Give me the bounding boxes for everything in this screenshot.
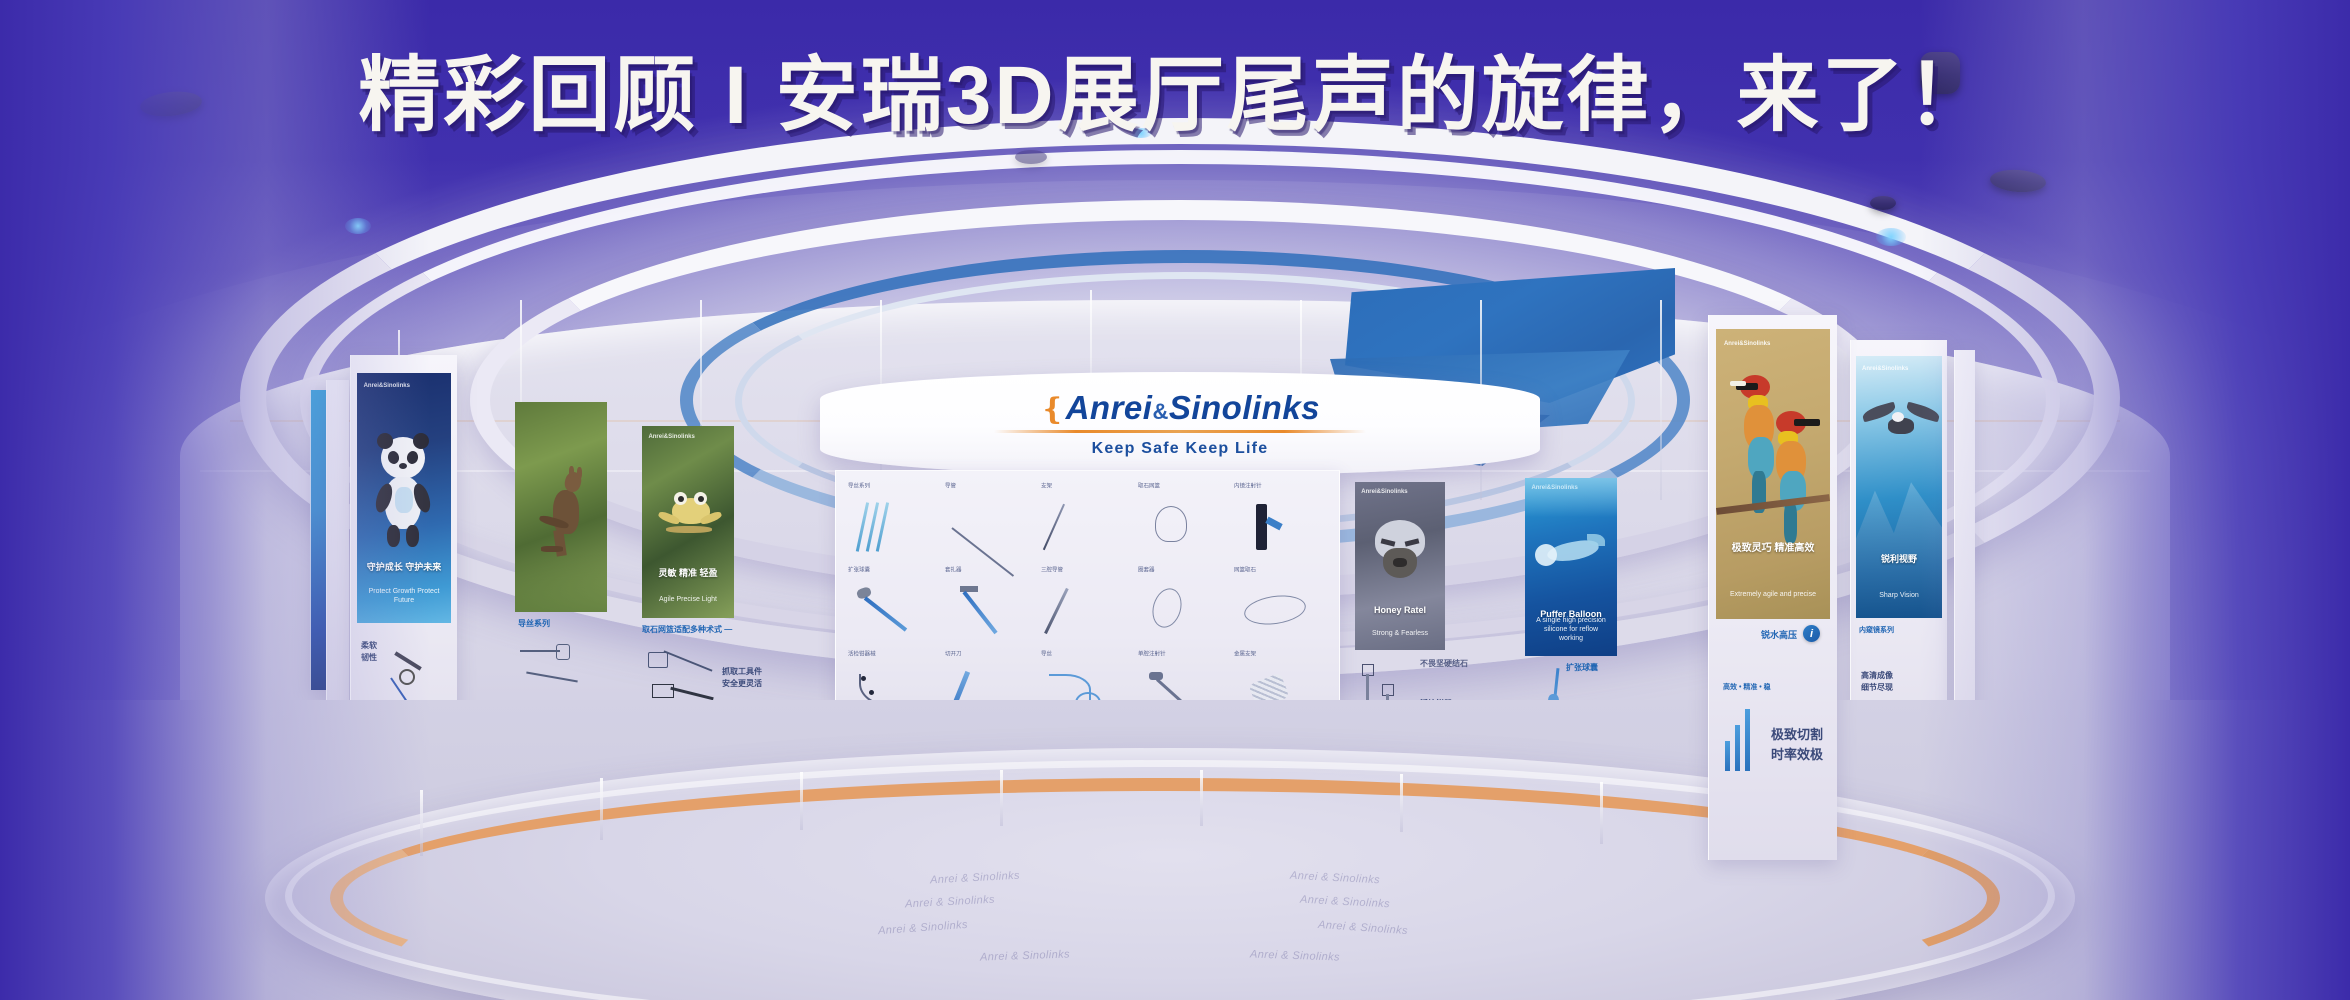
caption-bird-note: 锐水高压 — [1761, 629, 1797, 643]
caption-line-1: 抓取工具件 — [722, 667, 762, 676]
poster-title: 守护成长 守护未来 — [363, 562, 446, 573]
product-cell[interactable]: 套扎器 — [945, 565, 1038, 645]
exhibition-hall-banner-image: ❴Anrei&Sinolinks Keep Safe Keep Life Anr… — [0, 0, 2350, 1000]
poster-kangaroo[interactable] — [515, 402, 607, 612]
banner-title: 精彩回顾 I 安瑞3D展厅尾声的旋律，来了！ — [0, 28, 2350, 147]
caption-line-2: 韧性 — [361, 653, 377, 662]
railing-post — [1400, 774, 1403, 832]
product-label: 导丝系列 — [848, 481, 870, 489]
product-cell[interactable]: 导管 — [945, 481, 1038, 561]
device-thin-wire-icon — [952, 502, 1030, 552]
caption-bird-lines: 极致切割 时率效极 — [1771, 725, 1823, 764]
kiosk-caption-panda: 柔软 韧性 — [361, 640, 377, 664]
railing-post — [1600, 782, 1603, 844]
railing-post — [1200, 770, 1203, 826]
product-label: 导丝 — [1041, 649, 1052, 657]
ring-light-glint — [1876, 228, 1906, 246]
ceiling-spotlight-fixture — [1015, 150, 1047, 164]
product-label: 扩张球囊 — [848, 565, 870, 573]
product-label: 网篮取石 — [1234, 565, 1256, 573]
poster-brand-label: Anrei&Sinolinks — [1361, 489, 1407, 495]
poster-panda[interactable]: Anrei&Sinolinks 守护成长 守护未来 — [357, 373, 451, 623]
caption-line-2: 时率效极 — [1771, 747, 1823, 762]
device-triple-rod-icon — [855, 502, 933, 552]
poster-brand-label: Anrei&Sinolinks — [1724, 341, 1770, 347]
caption-badger-note: 不畏坚硬结石 — [1420, 658, 1468, 670]
bee-eater-bird-2 — [1764, 411, 1826, 547]
caption-line-2: 安全更灵活 — [722, 679, 762, 688]
poster-title: 极致灵巧 精准高效 — [1723, 543, 1823, 556]
poster-title: 锐利视野 — [1861, 554, 1937, 565]
product-label: 内镜注射针 — [1234, 481, 1262, 489]
caption-frog-note: 取石网篮适配多种术式 — — [642, 624, 732, 636]
product-cell[interactable]: 网篮取石 — [1234, 565, 1327, 645]
product-label: 金属支架 — [1234, 649, 1256, 657]
product-sketch-guidewire — [520, 642, 590, 702]
caption-eagle-note: 内窥镜系列 — [1859, 626, 1894, 637]
caption-eagle-lines: 高清成像 细节尽现 — [1861, 670, 1893, 694]
product-label: 导管 — [945, 481, 956, 489]
caption-kangaroo: 导丝系列 — [518, 618, 550, 630]
anrei-logo-mark-icon — [1803, 625, 1820, 642]
device-balloon-probe-icon — [855, 586, 933, 636]
kiosk-edge-left[interactable] — [310, 390, 327, 690]
ceiling-spotlight-fixture — [1870, 196, 1896, 210]
poster-title: Honey Ratel — [1360, 605, 1439, 616]
product-cell[interactable]: 扩张球囊 — [848, 565, 941, 645]
caption-line-1: 极致切割 — [1771, 727, 1823, 742]
poster-brand-label: Anrei&Sinolinks — [364, 383, 410, 389]
poster-subtitle: Sharp Vision — [1863, 591, 1935, 600]
device-big-loop-icon — [1242, 586, 1320, 636]
bar-1 — [1725, 741, 1730, 771]
ring-light-glint — [345, 218, 371, 234]
product-cell[interactable]: 导丝系列 — [848, 481, 941, 561]
railing-post — [600, 778, 603, 840]
product-cell[interactable]: 三腔导管 — [1041, 565, 1134, 645]
honey-badger-face — [1371, 520, 1429, 584]
device-taper-icon — [1049, 586, 1127, 636]
product-cell[interactable]: 内镜注射针 — [1234, 481, 1327, 561]
kiosk-bee-eater[interactable]: Anrei&Sinolinks — [1708, 315, 1837, 860]
kiosk-bar-chart — [1725, 707, 1750, 771]
poster-brand-label: Anrei&Sinolinks — [648, 434, 694, 440]
device-loop-icon — [1145, 502, 1223, 552]
bar-2 — [1735, 725, 1740, 771]
kiosk-edge-left-2[interactable] — [326, 380, 349, 710]
railing-post — [420, 790, 423, 856]
bar-3 — [1745, 709, 1750, 771]
poster-honey-badger[interactable]: Anrei&Sinolinks Honey Ratel Strong & Fea… — [1355, 482, 1445, 650]
caption-line-1: 高清成像 — [1861, 671, 1893, 680]
eagle-silhouette — [1862, 400, 1936, 456]
poster-title: 灵敏 精准 轻盈 — [648, 568, 729, 579]
poster-subtitle: A single high precision silicone for ref… — [1532, 616, 1609, 643]
poster-subtitle: Extremely agile and precise — [1725, 590, 1821, 599]
product-label: 活检钳器械 — [848, 649, 876, 657]
poster-subtitle: Agile Precise Light — [649, 595, 726, 604]
poster-dolphin[interactable]: Anrei&Sinolinks Puffer Balloon A single … — [1525, 478, 1617, 656]
railing-post — [1000, 770, 1003, 826]
product-label: 切开刀 — [945, 649, 962, 657]
poster-eagle-ice[interactable]: Anrei&Sinolinks 锐利视野 Sharp Vision — [1856, 356, 1942, 618]
product-cell[interactable]: 取石网篮 — [1138, 481, 1231, 561]
poster-frog[interactable]: Anrei&Sinolinks 灵敏 精准 轻盈 Agile Precise L… — [642, 426, 734, 618]
dolphin-illustration — [1535, 530, 1609, 576]
bar-chart-label: 高效 • 精准 • 稳 — [1723, 683, 1771, 694]
product-cell[interactable]: 支架 — [1041, 481, 1134, 561]
tree-frog-illustration — [656, 482, 722, 544]
product-label: 取石网篮 — [1138, 481, 1160, 489]
product-label: 圈套器 — [1138, 565, 1155, 573]
poster-subtitle: Strong & Fearless — [1362, 629, 1438, 638]
poster-bee-eaters[interactable]: Anrei&Sinolinks — [1716, 329, 1830, 619]
railing-post — [800, 772, 803, 830]
caption-line-2: 细节尽现 — [1861, 683, 1893, 692]
product-label: 套扎器 — [945, 565, 962, 573]
device-dark-handle-icon — [1242, 502, 1320, 552]
product-label: 三腔导管 — [1041, 565, 1063, 573]
poster-subtitle: Protect Growth Protect Future — [365, 587, 444, 605]
caption-line-1: 柔软 — [361, 641, 377, 650]
device-oval-loop-icon — [1145, 586, 1223, 636]
product-label: 单腔注射针 — [1138, 649, 1166, 657]
device-blue-rod-icon — [952, 586, 1030, 636]
product-cell[interactable]: 圈套器 — [1138, 565, 1231, 645]
panda-illustration — [373, 429, 433, 559]
product-label: 支架 — [1041, 481, 1052, 489]
device-needle-icon — [1049, 502, 1127, 552]
poster-brand-label: Anrei&Sinolinks — [1862, 366, 1908, 372]
caption-frog-lines: 抓取工具件 安全更灵活 — [722, 666, 762, 690]
